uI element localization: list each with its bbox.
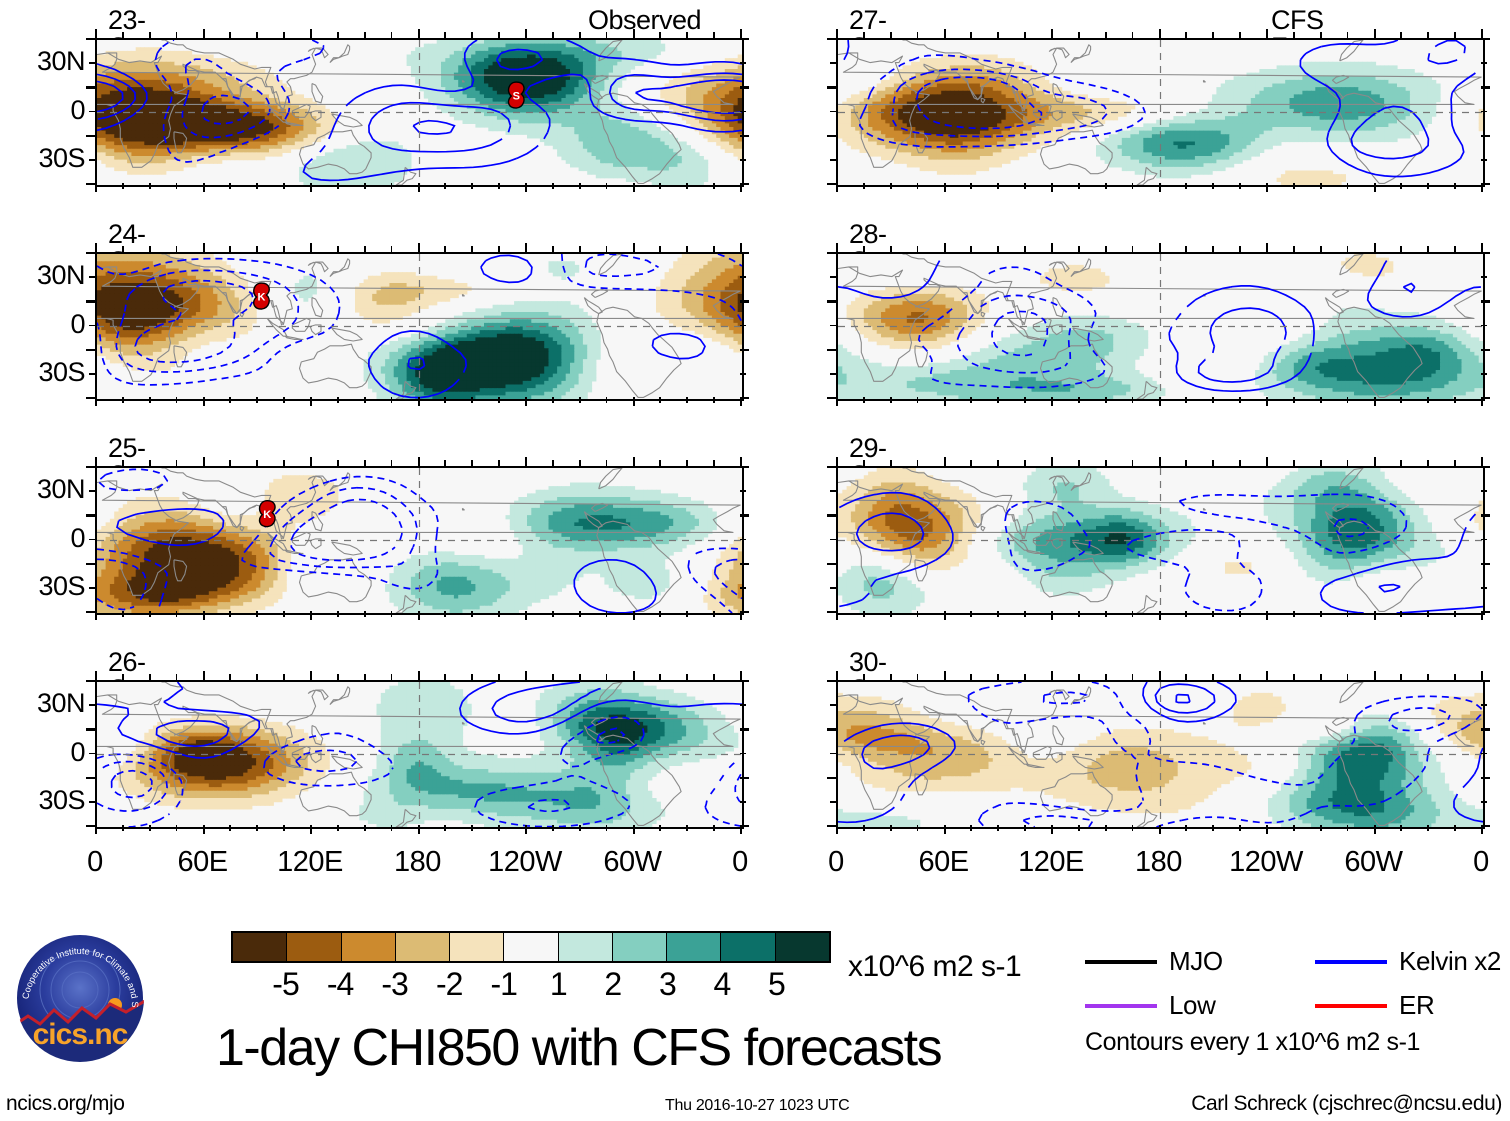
x-tick bbox=[364, 32, 366, 38]
y-tick bbox=[89, 753, 95, 755]
right-x-tick-1: 60E bbox=[899, 848, 989, 877]
x-tick bbox=[606, 674, 608, 680]
x-tick bbox=[917, 674, 919, 680]
x-tick bbox=[863, 825, 865, 831]
x-tick bbox=[229, 460, 231, 466]
y-tick bbox=[1481, 373, 1487, 375]
x-tick bbox=[1320, 397, 1322, 403]
y-tick bbox=[740, 62, 746, 64]
x-tick bbox=[95, 397, 97, 406]
y-tick bbox=[1481, 563, 1490, 565]
x-tick bbox=[471, 32, 473, 38]
x-tick bbox=[391, 246, 393, 252]
x-tick bbox=[1185, 397, 1187, 403]
y-tick bbox=[89, 62, 95, 64]
x-tick bbox=[176, 246, 178, 252]
x-tick bbox=[944, 457, 946, 466]
colorbar-cell-8 bbox=[667, 933, 721, 961]
x-tick bbox=[606, 246, 608, 252]
x-tick bbox=[364, 460, 366, 466]
x-tick bbox=[579, 246, 581, 252]
x-tick bbox=[149, 460, 151, 466]
x-tick bbox=[1266, 671, 1268, 680]
x-tick bbox=[1078, 460, 1080, 466]
x-tick bbox=[1427, 825, 1429, 831]
y-tick bbox=[740, 539, 746, 541]
y-tick bbox=[740, 349, 749, 351]
x-tick bbox=[917, 183, 919, 189]
x-tick bbox=[391, 183, 393, 189]
x-tick bbox=[686, 397, 688, 403]
y-tick bbox=[1481, 38, 1490, 40]
x-tick bbox=[1051, 611, 1053, 620]
x-tick bbox=[552, 611, 554, 617]
y-tick bbox=[89, 159, 95, 161]
x-tick bbox=[970, 397, 972, 403]
colorbar-cell-6 bbox=[559, 933, 613, 961]
x-tick bbox=[444, 246, 446, 252]
x-tick bbox=[1347, 825, 1349, 831]
x-tick bbox=[606, 32, 608, 38]
y-tick bbox=[827, 349, 836, 351]
y-tick bbox=[830, 587, 836, 589]
x-tick bbox=[1347, 246, 1349, 252]
colorbar bbox=[231, 931, 831, 963]
y-tick bbox=[86, 397, 95, 399]
x-tick bbox=[997, 460, 999, 466]
x-tick bbox=[1024, 611, 1026, 617]
y-tick bbox=[830, 753, 836, 755]
x-tick bbox=[1185, 246, 1187, 252]
y-tick bbox=[740, 680, 749, 682]
x-tick bbox=[944, 183, 946, 192]
x-tick bbox=[364, 825, 366, 831]
x-tick bbox=[1105, 611, 1107, 617]
y-tick bbox=[827, 397, 836, 399]
y-tick bbox=[1481, 135, 1490, 137]
x-tick bbox=[1374, 825, 1376, 834]
footer-left[interactable]: ncics.org/mjo bbox=[6, 1092, 125, 1116]
colorbar-tick--2: -2 bbox=[419, 966, 479, 1003]
legend-label-mjo: MJO bbox=[1169, 946, 1223, 977]
x-tick bbox=[283, 246, 285, 252]
x-tick bbox=[229, 32, 231, 38]
x-tick bbox=[1024, 246, 1026, 252]
y-tick bbox=[1481, 62, 1487, 64]
y-tick bbox=[830, 276, 836, 278]
x-tick bbox=[1132, 246, 1134, 252]
y-tick bbox=[740, 373, 746, 375]
y-tick-0: 0 bbox=[7, 97, 85, 124]
x-tick bbox=[337, 825, 339, 831]
y-tick bbox=[1481, 539, 1487, 541]
x-tick bbox=[552, 32, 554, 38]
x-tick bbox=[579, 397, 581, 403]
y-tick bbox=[740, 514, 749, 516]
legend-line-er bbox=[1315, 1004, 1387, 1008]
x-tick bbox=[122, 397, 124, 403]
x-tick bbox=[471, 460, 473, 466]
x-tick bbox=[890, 397, 892, 403]
y-tick bbox=[740, 563, 749, 565]
left-x-tick-5: 60W bbox=[588, 848, 678, 877]
cics-logo: Cooperative Institute for Climate and Sa… bbox=[14, 932, 146, 1064]
y-tick bbox=[1481, 466, 1490, 468]
x-tick bbox=[740, 29, 742, 38]
x-tick bbox=[917, 460, 919, 466]
y-tick bbox=[827, 611, 836, 613]
y-tick bbox=[830, 801, 836, 803]
x-tick bbox=[176, 32, 178, 38]
x-tick bbox=[863, 674, 865, 680]
x-tick bbox=[1347, 183, 1349, 189]
y-tick bbox=[1481, 183, 1490, 185]
x-tick bbox=[337, 397, 339, 403]
x-tick bbox=[310, 611, 312, 620]
contour-note: Contours every 1 x10^6 m2 s-1 bbox=[1085, 1028, 1420, 1057]
y-tick bbox=[1481, 514, 1490, 516]
x-tick bbox=[256, 611, 258, 617]
x-tick bbox=[1212, 460, 1214, 466]
map-29-oct[interactable] bbox=[836, 466, 1485, 615]
x-tick bbox=[203, 825, 205, 834]
y-tick-30s: 30S bbox=[7, 145, 85, 172]
y-tick bbox=[740, 276, 746, 278]
x-tick bbox=[713, 825, 715, 831]
x-tick bbox=[1374, 29, 1376, 38]
x-tick bbox=[283, 825, 285, 831]
x-tick bbox=[1266, 611, 1268, 620]
x-tick bbox=[890, 674, 892, 680]
legend-label-low: Low bbox=[1169, 990, 1216, 1021]
x-tick bbox=[203, 397, 205, 406]
x-tick bbox=[498, 611, 500, 617]
colorbar-cell-7 bbox=[613, 933, 667, 961]
x-tick bbox=[444, 825, 446, 831]
x-tick bbox=[444, 611, 446, 617]
x-tick bbox=[1427, 183, 1429, 189]
colorbar-cell-9 bbox=[721, 933, 775, 961]
y-tick bbox=[827, 728, 836, 730]
x-tick bbox=[890, 32, 892, 38]
y-tick bbox=[830, 539, 836, 541]
y-tick-0: 0 bbox=[7, 739, 85, 766]
map-27-oct[interactable] bbox=[836, 38, 1485, 187]
x-tick bbox=[364, 674, 366, 680]
x-tick bbox=[310, 183, 312, 192]
x-tick bbox=[229, 183, 231, 189]
x-tick bbox=[606, 183, 608, 189]
y-tick bbox=[89, 539, 95, 541]
x-tick bbox=[471, 397, 473, 403]
x-tick bbox=[659, 825, 661, 831]
colorbar-tick-1: 1 bbox=[528, 966, 588, 1003]
x-tick bbox=[256, 183, 258, 189]
x-tick bbox=[471, 825, 473, 831]
legend-label-er: ER bbox=[1399, 990, 1434, 1021]
x-tick bbox=[633, 825, 635, 834]
x-tick bbox=[970, 460, 972, 466]
x-tick bbox=[1212, 397, 1214, 403]
x-tick bbox=[970, 611, 972, 617]
x-tick bbox=[606, 397, 608, 403]
x-tick bbox=[337, 183, 339, 189]
y-tick bbox=[86, 728, 95, 730]
x-tick bbox=[418, 243, 420, 252]
x-tick bbox=[1212, 611, 1214, 617]
x-tick bbox=[498, 32, 500, 38]
x-tick bbox=[525, 457, 527, 466]
x-tick bbox=[1078, 825, 1080, 831]
x-tick bbox=[1454, 825, 1456, 831]
x-tick bbox=[444, 460, 446, 466]
x-tick bbox=[836, 825, 838, 834]
y-tick bbox=[1481, 611, 1490, 613]
x-tick bbox=[997, 183, 999, 189]
colorbar-cell-1 bbox=[287, 933, 341, 961]
x-tick bbox=[525, 397, 527, 406]
x-tick bbox=[471, 674, 473, 680]
y-tick bbox=[1481, 159, 1487, 161]
y-tick bbox=[740, 38, 749, 40]
x-tick bbox=[1454, 674, 1456, 680]
x-tick bbox=[740, 243, 742, 252]
y-tick bbox=[86, 680, 95, 682]
x-tick bbox=[1051, 183, 1053, 192]
legend-line-kelvin-x2 bbox=[1315, 960, 1387, 964]
x-tick bbox=[1400, 32, 1402, 38]
x-tick bbox=[1105, 32, 1107, 38]
x-tick bbox=[149, 674, 151, 680]
x-tick bbox=[203, 183, 205, 192]
y-tick bbox=[1481, 801, 1487, 803]
x-tick bbox=[1051, 457, 1053, 466]
map-23-oct[interactable]: S bbox=[95, 38, 744, 187]
x-tick bbox=[836, 243, 838, 252]
legend-label-kelvin-x2: Kelvin x2 bbox=[1399, 946, 1501, 977]
x-tick bbox=[283, 674, 285, 680]
map-26-oct[interactable] bbox=[95, 680, 744, 829]
x-tick bbox=[1024, 674, 1026, 680]
y-tick bbox=[827, 680, 836, 682]
y-tick bbox=[740, 801, 746, 803]
x-tick bbox=[283, 460, 285, 466]
y-tick bbox=[89, 373, 95, 375]
x-tick bbox=[1132, 32, 1134, 38]
x-tick bbox=[552, 183, 554, 189]
x-tick bbox=[256, 246, 258, 252]
colorbar-tick--5: -5 bbox=[256, 966, 316, 1003]
x-tick bbox=[364, 183, 366, 189]
y-tick bbox=[827, 466, 836, 468]
x-tick bbox=[471, 246, 473, 252]
x-tick bbox=[579, 611, 581, 617]
x-tick bbox=[525, 611, 527, 620]
x-tick bbox=[1374, 183, 1376, 192]
x-tick bbox=[1293, 183, 1295, 189]
y-tick bbox=[830, 373, 836, 375]
x-tick bbox=[659, 246, 661, 252]
legend-line-low bbox=[1085, 1004, 1157, 1008]
x-axis-labels-left: 060E120E180120W60W0 bbox=[95, 848, 740, 882]
x-tick bbox=[418, 29, 420, 38]
colorbar-tick-2: 2 bbox=[583, 966, 643, 1003]
map-25-oct[interactable]: K bbox=[95, 466, 744, 615]
x-tick bbox=[713, 32, 715, 38]
x-tick bbox=[1024, 32, 1026, 38]
y-tick bbox=[740, 86, 749, 88]
x-tick bbox=[1239, 397, 1241, 403]
left-x-tick-2: 120E bbox=[265, 848, 355, 877]
x-tick bbox=[1481, 29, 1483, 38]
map-30-oct[interactable] bbox=[836, 680, 1485, 829]
x-tick bbox=[579, 825, 581, 831]
x-tick bbox=[337, 674, 339, 680]
y-tick bbox=[827, 38, 836, 40]
y-tick bbox=[89, 587, 95, 589]
y-tick bbox=[86, 86, 95, 88]
x-tick bbox=[95, 183, 97, 192]
x-tick bbox=[256, 32, 258, 38]
x-tick bbox=[659, 32, 661, 38]
y-tick bbox=[86, 300, 95, 302]
x-tick bbox=[944, 671, 946, 680]
x-tick bbox=[1185, 183, 1187, 189]
left-x-tick-4: 120W bbox=[480, 848, 570, 877]
left-x-tick-0: 0 bbox=[50, 848, 140, 877]
x-tick bbox=[418, 457, 420, 466]
x-tick bbox=[633, 29, 635, 38]
x-tick bbox=[525, 825, 527, 834]
x-tick bbox=[997, 674, 999, 680]
x-tick bbox=[364, 246, 366, 252]
x-tick bbox=[337, 460, 339, 466]
x-tick bbox=[364, 397, 366, 403]
x-tick bbox=[863, 183, 865, 189]
x-tick bbox=[1105, 825, 1107, 831]
legend-entry-er: ER bbox=[1315, 990, 1434, 1021]
x-tick bbox=[1105, 397, 1107, 403]
x-tick bbox=[944, 397, 946, 406]
x-tick bbox=[95, 243, 97, 252]
y-tick-0: 0 bbox=[7, 525, 85, 552]
x-tick bbox=[1266, 29, 1268, 38]
x-tick bbox=[1347, 32, 1349, 38]
x-tick bbox=[890, 183, 892, 189]
y-tick bbox=[740, 611, 749, 613]
x-tick bbox=[1239, 825, 1241, 831]
x-tick bbox=[498, 674, 500, 680]
footer-center: Thu 2016-10-27 1023 UTC bbox=[665, 1097, 849, 1115]
x-tick bbox=[122, 183, 124, 189]
map-28-oct[interactable] bbox=[836, 252, 1485, 401]
y-tick bbox=[830, 704, 836, 706]
x-tick bbox=[1105, 183, 1107, 189]
y-tick bbox=[1481, 704, 1487, 706]
x-tick bbox=[740, 671, 742, 680]
x-tick bbox=[391, 825, 393, 831]
y-tick bbox=[1481, 680, 1490, 682]
x-tick bbox=[1347, 674, 1349, 680]
x-tick bbox=[686, 611, 688, 617]
x-tick bbox=[1024, 183, 1026, 189]
x-tick bbox=[1347, 611, 1349, 617]
x-tick bbox=[310, 397, 312, 406]
x-tick bbox=[418, 183, 420, 192]
x-tick bbox=[1374, 611, 1376, 620]
x-tick bbox=[659, 460, 661, 466]
x-tick bbox=[310, 825, 312, 834]
x-tick bbox=[498, 825, 500, 831]
y-tick bbox=[1481, 252, 1490, 254]
y-tick-30n: 30N bbox=[7, 690, 85, 717]
x-tick bbox=[203, 29, 205, 38]
colorbar-cell-0 bbox=[233, 933, 287, 961]
x-tick bbox=[149, 183, 151, 189]
y-tick-30s: 30S bbox=[7, 787, 85, 814]
x-tick bbox=[1320, 825, 1322, 831]
x-tick bbox=[890, 825, 892, 831]
x-tick bbox=[1454, 397, 1456, 403]
cics-logo-graphic: Cooperative Institute for Climate and Sa… bbox=[14, 932, 146, 1064]
x-tick bbox=[1105, 246, 1107, 252]
x-tick bbox=[391, 32, 393, 38]
x-tick bbox=[1159, 29, 1161, 38]
y-tick bbox=[89, 704, 95, 706]
x-tick bbox=[1320, 246, 1322, 252]
x-tick bbox=[1212, 825, 1214, 831]
x-tick bbox=[1185, 460, 1187, 466]
x-tick bbox=[917, 32, 919, 38]
x-tick bbox=[1132, 611, 1134, 617]
logo-wordmark: cics.nc bbox=[33, 1018, 128, 1051]
x-tick bbox=[95, 29, 97, 38]
x-tick bbox=[1159, 671, 1161, 680]
x-tick bbox=[1239, 460, 1241, 466]
x-tick bbox=[686, 460, 688, 466]
x-tick bbox=[256, 825, 258, 831]
y-tick-0: 0 bbox=[7, 311, 85, 338]
y-tick bbox=[86, 38, 95, 40]
x-tick bbox=[122, 32, 124, 38]
x-tick bbox=[944, 825, 946, 834]
x-tick bbox=[418, 825, 420, 834]
y-tick bbox=[740, 325, 746, 327]
x-tick bbox=[686, 825, 688, 831]
left-x-tick-1: 60E bbox=[158, 848, 248, 877]
y-tick bbox=[827, 183, 836, 185]
x-tick bbox=[713, 397, 715, 403]
x-tick bbox=[498, 183, 500, 189]
map-24-oct[interactable]: K bbox=[95, 252, 744, 401]
x-tick bbox=[1132, 825, 1134, 831]
x-tick bbox=[1105, 674, 1107, 680]
y-tick bbox=[1481, 825, 1490, 827]
x-tick bbox=[1051, 397, 1053, 406]
y-tick bbox=[740, 825, 749, 827]
x-tick bbox=[1239, 674, 1241, 680]
x-tick bbox=[256, 674, 258, 680]
x-tick bbox=[310, 457, 312, 466]
legend-entry-kelvin-x2: Kelvin x2 bbox=[1315, 946, 1501, 977]
x-tick bbox=[1159, 611, 1161, 620]
x-tick bbox=[1239, 32, 1241, 38]
x-tick bbox=[203, 671, 205, 680]
x-tick bbox=[1051, 243, 1053, 252]
legend-entry-low: Low bbox=[1085, 990, 1216, 1021]
x-tick bbox=[203, 243, 205, 252]
x-tick bbox=[122, 825, 124, 831]
